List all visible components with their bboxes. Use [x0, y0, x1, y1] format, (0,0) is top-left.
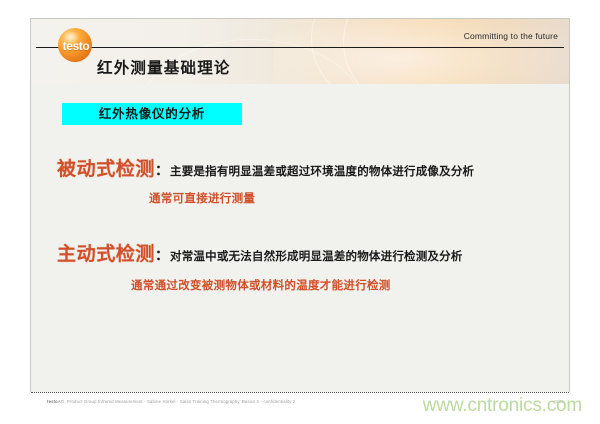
block-heading-passive: 被动式检测 ： 主要是指有明显温差或超过环境温度的物体进行成像及分析	[57, 154, 474, 181]
footer-brand: testo	[47, 399, 58, 404]
brand-tagline: Committing to the future	[464, 31, 558, 41]
header-divider	[36, 47, 564, 48]
content-block-active: 主动式检测 ： 对常温中或无法自然形成明显温差的物体进行检测及分析 通常通过改变…	[57, 239, 463, 293]
lead-colon-passive: ：	[155, 160, 170, 180]
header-swoosh-2	[343, 19, 569, 84]
sub-note-passive: 通常可直接进行测量	[149, 190, 474, 206]
lead-term-passive: 被动式检测	[57, 154, 155, 181]
slide-canvas: testo Committing to the future 红外测量基础理论 …	[0, 0, 600, 424]
lead-colon-active: ：	[155, 245, 170, 265]
lead-description-active: 对常温中或无法自然形成明显温差的物体进行检测及分析	[170, 248, 463, 264]
footer-credit-text: AG, Product Group Infrared Measurement ·…	[58, 399, 296, 404]
subtitle-label: 红外热像仪的分析	[62, 103, 242, 125]
page-title: 红外测量基础理论	[97, 56, 231, 78]
content-block-passive: 被动式检测 ： 主要是指有明显温差或超过环境温度的物体进行成像及分析 通常可直接…	[57, 154, 474, 206]
footer-credit: testoAG, Product Group Infrared Measurem…	[47, 399, 295, 404]
footer-divider	[31, 392, 569, 393]
site-watermark: www.cntronics.com	[423, 395, 582, 417]
sub-note-active: 通常通过改变被测物体或材料的温度才能进行检测	[131, 277, 463, 293]
lead-description-passive: 主要是指有明显温差或超过环境温度的物体进行成像及分析	[170, 163, 474, 179]
header-swoosh-1	[311, 19, 569, 84]
lead-term-active: 主动式检测	[57, 239, 155, 266]
subtitle-highlight-box: 红外热像仪的分析	[62, 103, 242, 125]
block-heading-active: 主动式检测 ： 对常温中或无法自然形成明显温差的物体进行检测及分析	[57, 239, 463, 266]
testo-logo: testo	[58, 28, 92, 62]
logo-wordmark: testo	[52, 39, 100, 53]
slide-body	[31, 84, 569, 392]
